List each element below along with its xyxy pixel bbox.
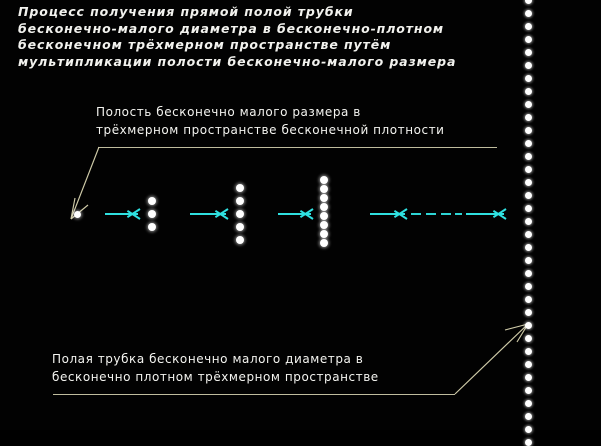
- cavity-dot: [525, 309, 532, 316]
- diagram-canvas: Процесс получения прямой полой трубки бе…: [0, 0, 601, 430]
- cavity-dot: [525, 192, 532, 199]
- cavity-dot: [148, 223, 156, 231]
- cavity-dot: [525, 322, 532, 329]
- cavity-dot: [525, 101, 532, 108]
- cavity-dot: [525, 153, 532, 160]
- progression-arrow-2: [190, 207, 226, 221]
- cavity-dot: [525, 270, 532, 277]
- pointer-arrow-top: [71, 147, 99, 219]
- cavity-dot: [525, 257, 532, 264]
- cavity-dot: [148, 197, 156, 205]
- cavity-dot: [525, 244, 532, 251]
- cavity-dot: [525, 36, 532, 43]
- cavity-dot: [320, 176, 328, 184]
- pointer-arrow-bottom: [455, 324, 528, 394]
- progression-arrow-5: [466, 207, 504, 221]
- cavity-dot: [525, 10, 532, 17]
- cavity-dot: [525, 413, 532, 420]
- cavity-dot: [525, 218, 532, 225]
- cavity-dot: [320, 212, 328, 220]
- cavity-dot: [525, 127, 532, 134]
- cavity-dot: [525, 231, 532, 238]
- cavity-dot: [525, 361, 532, 368]
- cavity-dot: [525, 335, 532, 342]
- cavity-dot: [236, 184, 244, 192]
- cavity-dot: [320, 221, 328, 229]
- cavity-dot: [525, 283, 532, 290]
- progression-arrow-1: [105, 207, 138, 221]
- progression-arrow-4: [370, 207, 405, 221]
- cavity-dot: [236, 197, 244, 205]
- cavity-dot: [236, 210, 244, 218]
- cavity-dot: [525, 296, 532, 303]
- cavity-dot: [525, 179, 532, 186]
- cavity-dot: [525, 439, 532, 446]
- cavity-dot: [525, 62, 532, 69]
- cavity-dot: [525, 400, 532, 407]
- cavity-dot: [525, 88, 532, 95]
- cavity-dot: [525, 75, 532, 82]
- cavity-dot: [525, 0, 532, 4]
- cavity-dot: [320, 230, 328, 238]
- cavity-dot: [525, 387, 532, 394]
- cavity-dot: [525, 374, 532, 381]
- cavity-dot: [320, 194, 328, 202]
- cavity-dot: [320, 239, 328, 247]
- cavity-dot: [148, 210, 156, 218]
- cavity-dot: [236, 223, 244, 231]
- cavity-dot: [525, 205, 532, 212]
- cavity-dot: [525, 23, 532, 30]
- cavity-dot: [525, 348, 532, 355]
- progression-arrow-3: [278, 207, 311, 221]
- progression-ellipsis-dashes: [411, 213, 463, 215]
- cavity-dot: [525, 140, 532, 147]
- cavity-dot: [320, 203, 328, 211]
- cavity-dot: [320, 185, 328, 193]
- cavity-dot: [525, 49, 532, 56]
- cavity-dot: [525, 166, 532, 173]
- infinite-dotted-column: [524, 0, 536, 430]
- cavity-dot: [236, 236, 244, 244]
- cavity-dot: [525, 114, 532, 121]
- cavity-dot: [74, 211, 81, 218]
